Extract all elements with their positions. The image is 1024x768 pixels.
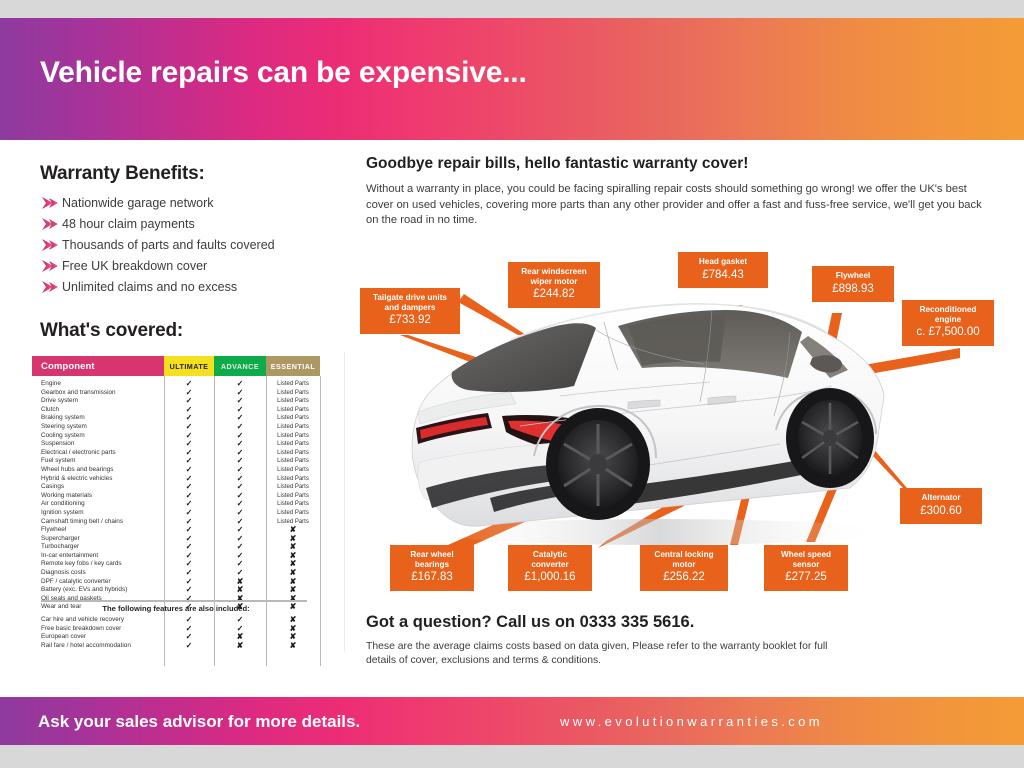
component-name: Free basic breakdown cover [32, 625, 164, 634]
table-row: In-car entertainment✓✓✘ [32, 552, 320, 561]
cell-essential: Listed Parts [277, 500, 309, 509]
table-row: Rail fare / hotel accommodation✓✘✘ [32, 642, 320, 651]
callout-label: Central locking motor [648, 550, 720, 569]
component-name: Electrical / electronic parts [32, 449, 164, 458]
table-row: Free basic breakdown cover✓✓✘ [32, 625, 320, 634]
benefits-heading: Warranty Benefits: [40, 163, 205, 185]
table-row: Ignition system✓✓Listed Parts [32, 509, 320, 518]
component-name: Steering system [32, 423, 164, 432]
component-name: Turbocharger [32, 543, 164, 552]
cell-essential: Listed Parts [277, 509, 309, 518]
component-name: Remote key fobs / key cards [32, 560, 164, 569]
benefit-item: 48 hour claim payments [40, 213, 340, 234]
extra-rule-3 [266, 612, 267, 666]
component-name: Engine [32, 380, 164, 389]
table-row: Car hire and vehicle recovery✓✓✘ [32, 616, 320, 625]
column-header-essential: ESSENTIAL [266, 356, 320, 376]
cell-essential: Listed Parts [277, 397, 309, 406]
table-row: Gearbox and transmission✓✓Listed Parts [32, 389, 320, 398]
table-row: Working materials✓✓Listed Parts [32, 492, 320, 501]
cell-advance: ✘ [237, 642, 244, 651]
component-name: Rail fare / hotel accommodation [32, 642, 164, 651]
component-name: Cooling system [32, 432, 164, 441]
extra-features-table: Car hire and vehicle recovery✓✓✘Free bas… [32, 616, 320, 650]
table-rule-1 [164, 376, 165, 621]
arrow-bullet-icon [40, 237, 62, 253]
table-row: Flywheel✓✓✘ [32, 526, 320, 535]
benefit-item: Thousands of parts and faults covered [40, 234, 340, 255]
callout-price: c. £7,500.00 [910, 326, 986, 340]
cell-essential: Listed Parts [277, 483, 309, 492]
table-row: Clutch✓✓Listed Parts [32, 406, 320, 415]
cell-essential: Listed Parts [277, 466, 309, 475]
component-name: DPF / catalytic converter [32, 578, 164, 587]
callout-label: Rear wheel bearings [398, 550, 466, 569]
cell-essential: Listed Parts [277, 380, 309, 389]
benefit-label: Nationwide garage network [62, 196, 213, 210]
benefit-item: Nationwide garage network [40, 192, 340, 213]
cell-essential: Listed Parts [277, 457, 309, 466]
callout-price: £784.43 [686, 269, 760, 283]
callout-price: £244.82 [516, 288, 592, 302]
callout-wheel-speed[interactable]: Wheel speed sensor £277.25 [764, 545, 848, 591]
benefit-item: Free UK breakdown cover [40, 255, 340, 276]
column-header-ultimate: ULTIMATE [164, 356, 214, 376]
contact-heading: Got a question? Call us on 0333 335 5616… [366, 613, 694, 632]
table-row: Camshaft timing belt / chains✓✓Listed Pa… [32, 518, 320, 527]
component-name: Diagnosis costs [32, 569, 164, 578]
cell-ultimate: ✓ [186, 642, 193, 651]
cell-essential: Listed Parts [277, 432, 309, 441]
component-name: European cover [32, 633, 164, 642]
cell-essential: Listed Parts [277, 406, 309, 415]
callout-flywheel[interactable]: Flywheel £898.93 [812, 266, 894, 302]
arrow-bullet-icon [40, 279, 62, 295]
table-row: Supercharger✓✓✘ [32, 535, 320, 544]
footer-cta: Ask your sales advisor for more details. [38, 712, 360, 732]
component-name: Casings [32, 483, 164, 492]
callout-price: £1,000.16 [516, 571, 584, 585]
coverage-divider [41, 600, 307, 602]
component-name: Wheel hubs and bearings [32, 466, 164, 475]
intro-body: Without a warranty in place, you could b… [366, 182, 994, 229]
cell-essential: Listed Parts [277, 414, 309, 423]
callout-label: Alternator [908, 493, 974, 503]
coverage-table-body: Engine✓✓Listed PartsGearbox and transmis… [32, 376, 320, 612]
column-divider [344, 352, 345, 652]
table-row: Remote key fobs / key cards✓✓✘ [32, 560, 320, 569]
callout-label: Flywheel [820, 271, 886, 281]
table-row: Cooling system✓✓Listed Parts [32, 432, 320, 441]
callout-label: Tailgate drive units and dampers [368, 293, 452, 312]
extra-features-heading: The following features are also included… [32, 604, 320, 613]
component-name: Drive system [32, 397, 164, 406]
callout-alternator[interactable]: Alternator £300.60 [900, 488, 982, 524]
cell-essential: Listed Parts [277, 449, 309, 458]
table-row: Wheel hubs and bearings✓✓Listed Parts [32, 466, 320, 475]
benefit-label: Unlimited claims and no excess [62, 280, 237, 294]
callout-central-lock[interactable]: Central locking motor £256.22 [640, 545, 728, 591]
benefit-item: Unlimited claims and no excess [40, 276, 340, 297]
benefit-label: Free UK breakdown cover [62, 259, 207, 273]
component-name: Suspension [32, 440, 164, 449]
cell-essential: Listed Parts [277, 492, 309, 501]
callout-price: £733.92 [368, 314, 452, 328]
whats-covered-heading: What's covered: [40, 320, 183, 342]
top-grey-band [0, 0, 1024, 18]
component-name: Air conditioning [32, 500, 164, 509]
column-header-component: Component [32, 356, 164, 376]
table-rule-4 [320, 376, 321, 621]
callout-label: Catalytic converter [516, 550, 584, 569]
table-row: Suspension✓✓Listed Parts [32, 440, 320, 449]
table-row: Diagnosis costs✓✓✘ [32, 569, 320, 578]
callout-tailgate[interactable]: Tailgate drive units and dampers £733.92 [360, 288, 460, 334]
table-row: Turbocharger✓✓✘ [32, 543, 320, 552]
table-row: European cover✓✘✘ [32, 633, 320, 642]
car-illustration [412, 304, 885, 545]
extra-rule-2 [214, 612, 215, 666]
table-rule-3 [266, 376, 267, 621]
component-name: Camshaft timing belt / chains [32, 518, 164, 527]
table-row: Battery (exc. EVs and hybrids)✓✘✘ [32, 586, 320, 595]
bottom-grey-band [0, 745, 1024, 768]
benefit-label: 48 hour claim payments [62, 217, 195, 231]
footer-website-url[interactable]: www.evolutionwarranties.com [560, 714, 823, 729]
arrow-bullet-icon [40, 195, 62, 211]
callout-label: Wheel speed sensor [772, 550, 840, 569]
cell-essential: Listed Parts [277, 475, 309, 484]
component-name: Car hire and vehicle recovery [32, 616, 164, 625]
benefit-label: Thousands of parts and faults covered [62, 238, 275, 252]
callout-price: £898.93 [820, 283, 886, 297]
table-row: Steering system✓✓Listed Parts [32, 423, 320, 432]
table-row: Air conditioning✓✓Listed Parts [32, 500, 320, 509]
arrow-bullet-icon [40, 216, 62, 232]
table-row: Electrical / electronic parts✓✓Listed Pa… [32, 449, 320, 458]
arrow-bullet-icon [40, 258, 62, 274]
disclaimer-text: These are the average claims costs based… [366, 640, 836, 669]
callout-rear-bearings[interactable]: Rear wheel bearings £167.83 [390, 545, 474, 591]
poster-page: Vehicle repairs can be expensive... Warr… [0, 0, 1024, 768]
component-name: Gearbox and transmission [32, 389, 164, 398]
callout-price: £256.22 [648, 571, 720, 585]
callout-engine[interactable]: Reconditioned engine c. £7,500.00 [902, 300, 994, 346]
callout-price: £167.83 [398, 571, 466, 585]
component-name: Braking system [32, 414, 164, 423]
callout-label: Head gasket [686, 257, 760, 267]
table-row: Drive system✓✓Listed Parts [32, 397, 320, 406]
cell-essential: ✘ [290, 642, 297, 651]
cell-essential: Listed Parts [277, 423, 309, 432]
callout-price: £277.25 [772, 571, 840, 585]
table-row: Casings✓✓Listed Parts [32, 483, 320, 492]
component-name: Hybrid & electric vehicles [32, 475, 164, 484]
component-name: In-car entertainment [32, 552, 164, 561]
vehicle-diagram: Tailgate drive units and dampers £733.92… [360, 240, 1020, 600]
table-row: Fuel system✓✓Listed Parts [32, 457, 320, 466]
page-title: Vehicle repairs can be expensive... [40, 56, 527, 90]
component-name: Working materials [32, 492, 164, 501]
table-row: Engine✓✓Listed Parts [32, 380, 320, 389]
callout-label: Rear windscreen wiper motor [516, 267, 592, 286]
component-name: Clutch [32, 406, 164, 415]
cell-essential: Listed Parts [277, 440, 309, 449]
table-rule-2 [214, 376, 215, 621]
column-header-advance: ADVANCE [214, 356, 266, 376]
callout-label: Reconditioned engine [910, 305, 986, 324]
component-name: Ignition system [32, 509, 164, 518]
table-row: Hybrid & electric vehicles✓✓Listed Parts [32, 475, 320, 484]
coverage-table: Component ULTIMATE ADVANCE ESSENTIAL Eng… [32, 356, 320, 612]
component-name: Supercharger [32, 535, 164, 544]
coverage-table-header: Component ULTIMATE ADVANCE ESSENTIAL [32, 356, 320, 376]
callout-wiper[interactable]: Rear windscreen wiper motor £244.82 [508, 262, 600, 308]
benefits-list: Nationwide garage network48 hour claim p… [40, 192, 340, 297]
component-name: Flywheel [32, 526, 164, 535]
callout-catalytic[interactable]: Catalytic converter £1,000.16 [508, 545, 592, 591]
callout-price: £300.60 [908, 505, 974, 519]
extra-rule-1 [164, 612, 165, 666]
table-row: Braking system✓✓Listed Parts [32, 414, 320, 423]
callout-head-gasket[interactable]: Head gasket £784.43 [678, 252, 768, 288]
extra-rule-4 [320, 612, 321, 666]
table-row: DPF / catalytic converter✓✘✘ [32, 578, 320, 587]
intro-heading: Goodbye repair bills, hello fantastic wa… [366, 155, 748, 173]
component-name: Fuel system [32, 457, 164, 466]
component-name: Battery (exc. EVs and hybrids) [32, 586, 164, 595]
cell-essential: Listed Parts [277, 389, 309, 398]
